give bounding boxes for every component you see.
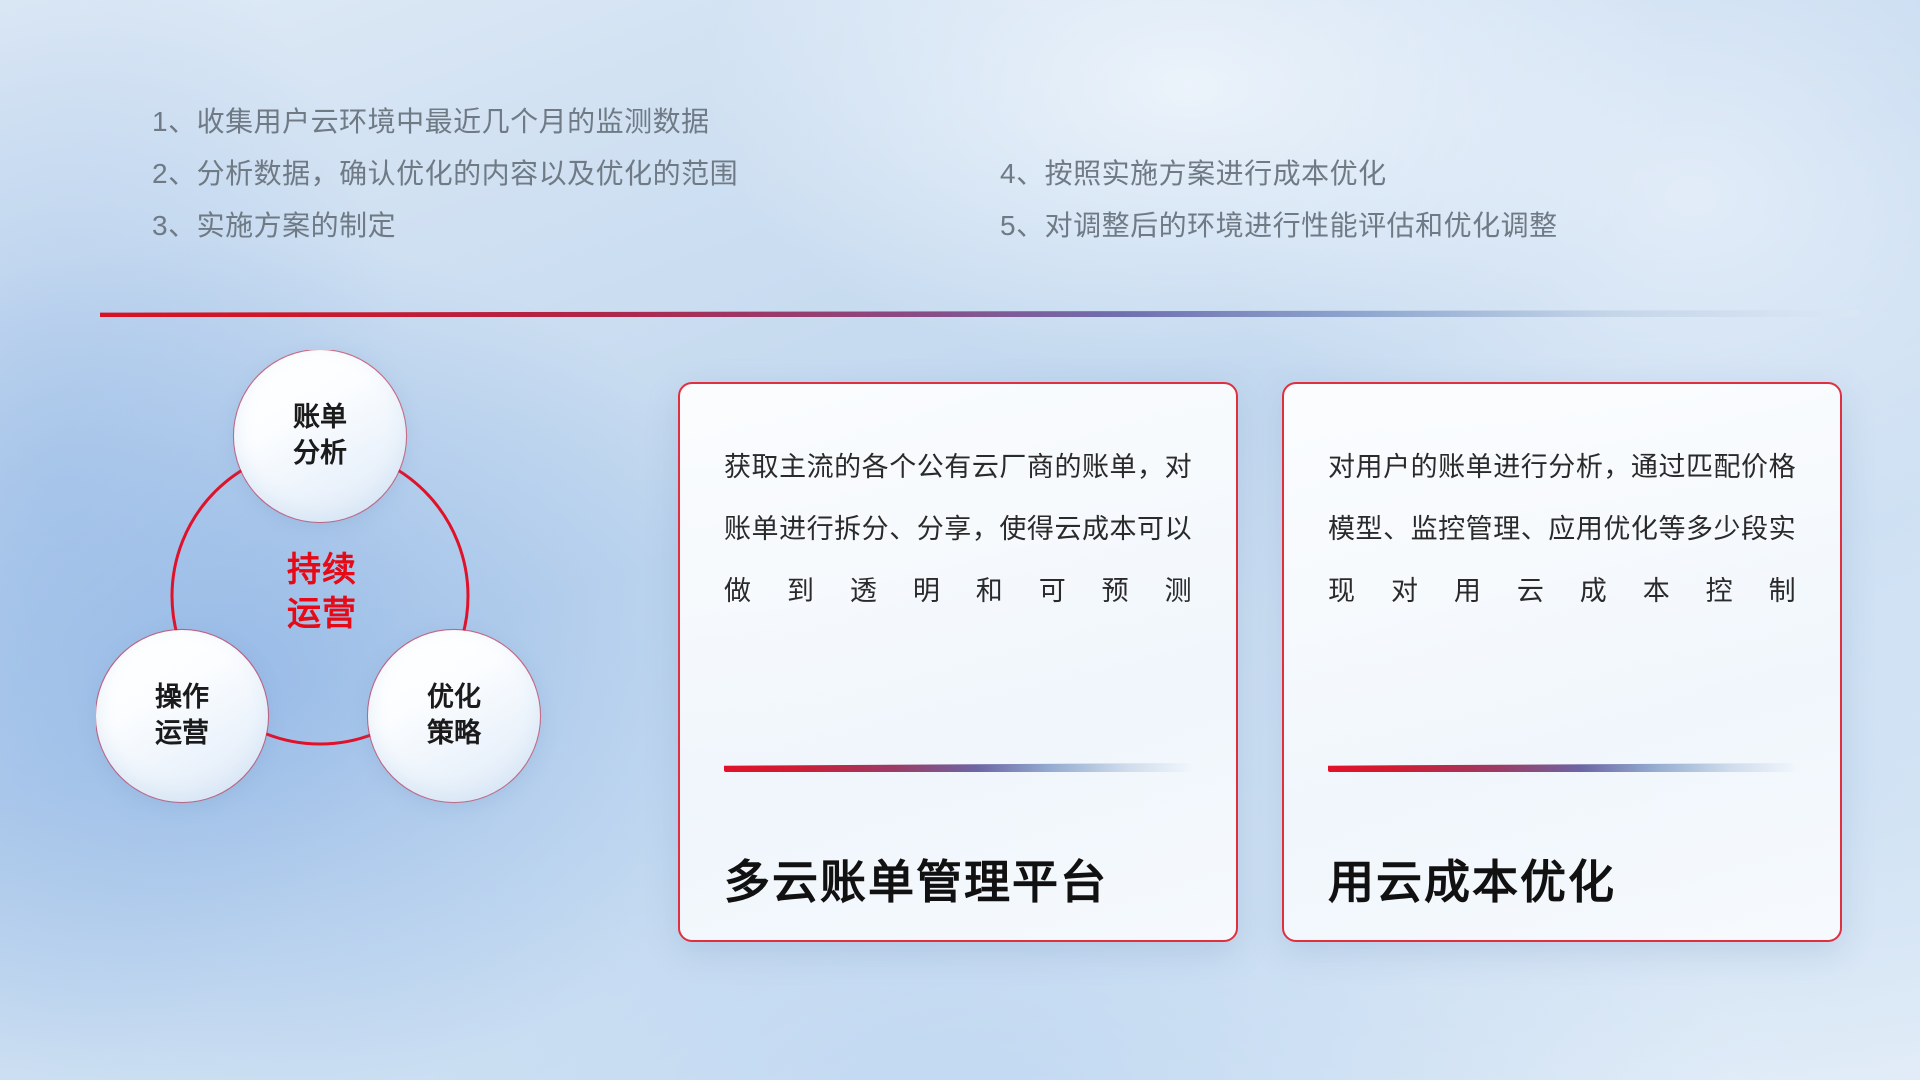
diagram-bubble-bill-analysis[interactable]: 账单 分析 <box>234 350 406 522</box>
bubble-label-line1: 账单 <box>293 400 347 436</box>
card-title: 多云账单管理平台 <box>724 772 1192 940</box>
center-label-line2: 运营 <box>287 593 357 637</box>
feature-card-cloud-cost-optimization[interactable]: 对用户的账单进行分析，通过匹配价格模型、监控管理、应用优化等多少段实现对用云成本… <box>1282 382 1842 942</box>
steps-left-column: 1、收集用户云环境中最近几个月的监测数据 2、分析数据，确认优化的内容以及优化的… <box>152 96 852 252</box>
card-divider <box>1328 763 1796 772</box>
bubble-label-line2: 分析 <box>293 436 347 472</box>
card-body-text: 对用户的账单进行分析，通过匹配价格模型、监控管理、应用优化等多少段实现对用云成本… <box>1328 436 1796 622</box>
bubble-label-line1: 优化 <box>427 680 481 716</box>
step-item-5: 5、对调整后的环境进行性能评估和优化调整 <box>1000 200 1720 252</box>
step-item-2: 2、分析数据，确认优化的内容以及优化的范围 <box>152 148 852 200</box>
step-item-1: 1、收集用户云环境中最近几个月的监测数据 <box>152 96 852 148</box>
step-item-4: 4、按照实施方案进行成本优化 <box>1000 148 1720 200</box>
step-item-3: 3、实施方案的制定 <box>152 200 852 252</box>
steps-right-column: 4、按照实施方案进行成本优化 5、对调整后的环境进行性能评估和优化调整 <box>1000 148 1720 252</box>
center-label-line1: 持续 <box>287 549 357 593</box>
bubble-label-line1: 操作 <box>155 680 209 716</box>
card-body-text: 获取主流的各个公有云厂商的账单，对账单进行拆分、分享，使得云成本可以做到透明和可… <box>724 436 1192 622</box>
card-title: 用云成本优化 <box>1328 772 1796 940</box>
diagram-bubble-optimization-strategy[interactable]: 优化 策略 <box>368 630 540 802</box>
cycle-diagram: 账单 分析 操作 运营 优化 策略 持续 运营 <box>96 350 616 910</box>
section-divider <box>100 310 1860 317</box>
diagram-center-label: 持续 运营 <box>212 534 432 652</box>
card-divider <box>724 763 1192 772</box>
feature-card-multicloud-billing[interactable]: 获取主流的各个公有云厂商的账单，对账单进行拆分、分享，使得云成本可以做到透明和可… <box>678 382 1238 942</box>
bubble-label-line2: 策略 <box>427 716 481 752</box>
bubble-label-line2: 运营 <box>155 716 209 752</box>
diagram-bubble-operation[interactable]: 操作 运营 <box>96 630 268 802</box>
